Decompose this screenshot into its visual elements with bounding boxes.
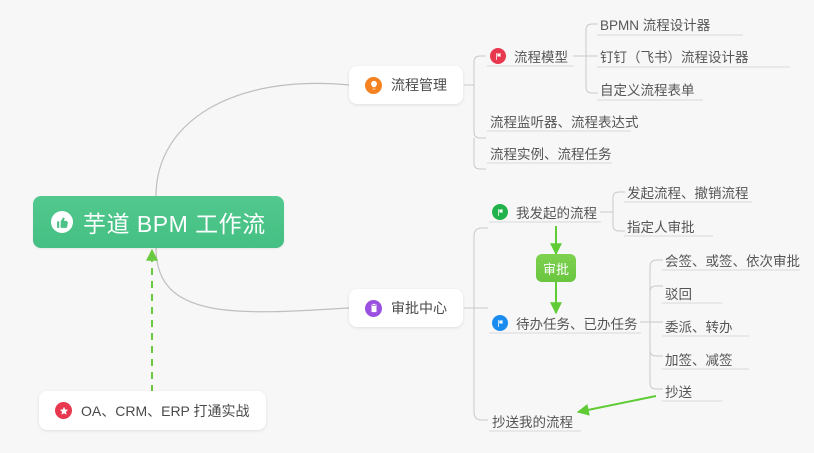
leaf-node-designated-approver[interactable]: 指定人审批 [625,213,699,239]
leaf-node-start-cancel[interactable]: 发起流程、撤销流程 [625,179,753,205]
leaf-node-bpmn-designer[interactable]: BPMN 流程设计器 [598,11,714,37]
leaf-node-label: 委派、转办 [665,316,733,336]
annotation-approval-pill[interactable]: 审批 [536,254,576,282]
clipboard-icon [365,300,382,317]
leaf-node-label: 会签、或签、依次审批 [665,250,800,270]
edge-approval-center-bracket [464,228,488,308]
branch-node-label: 审批中心 [391,298,447,318]
flag-icon [492,315,508,331]
edge-approval-center-stem-bottom [474,308,488,420]
branch-node-label: 流程管理 [391,75,447,95]
topic-node-label: 抄送我的流程 [492,411,573,431]
leaf-node-label: 发起流程、撤销流程 [627,182,749,202]
star-icon [55,402,72,419]
topic-node-todo-tasks[interactable]: 待办任务、已办任务 [490,310,642,336]
root-node[interactable]: 芋道 BPM 工作流 [33,196,284,248]
edge-process-model-bracket-top [573,24,598,56]
edge-root-to-approval-center [156,248,349,312]
leaf-node-label: 驳回 [665,283,692,303]
leaf-node-label: 自定义流程表单 [600,79,695,99]
topic-node-cc-my-processes[interactable]: 抄送我的流程 [490,408,577,434]
edge-process-model-bracket-bottom [586,56,598,93]
topic-node-label: 待办任务、已办任务 [516,313,638,333]
leaf-node-label: 钉钉（飞书）流程设计器 [600,46,749,66]
flag-icon [490,48,506,64]
leaf-node-delegate[interactable]: 委派、转办 [663,313,737,339]
topic-node-label: 流程模型 [514,46,568,66]
annotation-approval-pill-label: 审批 [543,259,569,278]
topic-node-my-processes[interactable]: 我发起的流程 [490,199,601,225]
root-node-label: 芋道 BPM 工作流 [83,205,266,239]
edge-root-to-process-management [156,83,349,196]
leaf-node-label: BPMN 流程设计器 [600,14,710,34]
leaf-node-add-remove-sign[interactable]: 加签、减签 [663,346,737,372]
edge-todo-tasks-leaf-2 [650,286,663,322]
topic-node-label: 流程实例、流程任务 [490,143,612,163]
leaf-node-custom-form[interactable]: 自定义流程表单 [598,76,699,102]
edge-my-processes-bracket-bottom [613,212,625,231]
leaf-node-label: 抄送 [665,381,692,401]
edge-todo-tasks-bracket-top [640,260,663,322]
topic-node-label: 我发起的流程 [516,202,597,222]
arrow-cc-to-cc-my-processes [578,396,656,412]
topic-node-instance-task[interactable]: 流程实例、流程任务 [488,140,616,166]
leaf-node-reject[interactable]: 驳回 [663,280,696,306]
leaf-node-dingtalk-designer[interactable]: 钉钉（飞书）流程设计器 [598,43,753,69]
edge-process-management-stem-2 [474,138,486,169]
branch-node-approval-center[interactable]: 审批中心 [349,289,463,327]
leaf-node-label: 加签、减签 [665,349,733,369]
leaf-node-cc[interactable]: 抄送 [663,378,696,404]
edge-my-processes-bracket-top [600,192,625,212]
flag-icon [492,204,508,220]
leaf-node-countersign[interactable]: 会签、或签、依次审批 [663,247,804,273]
topic-node-process-model[interactable]: 流程模型 [488,43,572,69]
edge-process-management-bracket [464,56,486,85]
lightbulb-icon [365,77,382,94]
edge-todo-tasks-leaf-5 [650,322,663,389]
mindmap-canvas: 芋道 BPM 工作流 流程管理 流程模型 BPMN 流程设计器 钉钉（飞书）流程… [0,0,814,453]
leaf-node-label: 指定人审批 [627,216,695,236]
annotation-footer-note[interactable]: OA、CRM、ERP 打通实战 [39,391,266,430]
thumbs-up-icon [51,211,73,233]
edge-process-management-stem [474,85,486,138]
topic-node-label: 流程监听器、流程表达式 [490,111,639,131]
edge-todo-tasks-leaf-4 [650,322,663,356]
topic-node-listener-expression[interactable]: 流程监听器、流程表达式 [488,108,643,134]
annotation-footer-note-label: OA、CRM、ERP 打通实战 [81,401,250,421]
branch-node-process-management[interactable]: 流程管理 [349,66,463,104]
